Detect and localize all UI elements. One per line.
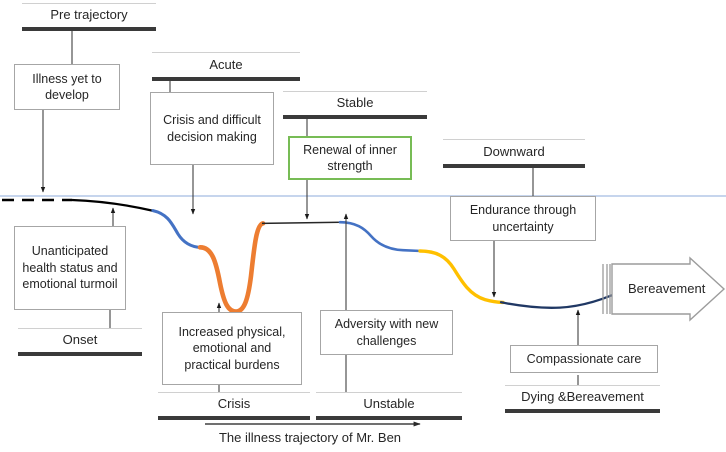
annotation-unanticipated-health-status[interactable]: Unanticipated health status and emotiona…: [14, 226, 126, 310]
annotation-text: Renewal of inner strength: [295, 142, 405, 175]
phase-bar-dying-and-bereavement[interactable]: Dying &Bereavement: [505, 385, 660, 413]
annotation-text: Illness yet to develop: [20, 71, 114, 104]
phase-bar-unstable[interactable]: Unstable: [316, 392, 462, 420]
annotation-text: Compassionate care: [527, 351, 642, 368]
curve-segment-acute: [153, 211, 201, 248]
annotation-text: Increased physical, emotional and practi…: [168, 324, 296, 374]
phase-bar-label: Acute: [209, 58, 242, 72]
phase-bar-stable[interactable]: Stable: [283, 91, 427, 119]
annotation-illness-yet-to-develop[interactable]: Illness yet to develop: [14, 64, 120, 110]
phase-bar-label: Downward: [483, 145, 544, 159]
curve-segment-unstable: [340, 222, 421, 251]
phase-bar-onset[interactable]: Onset: [18, 328, 142, 356]
annotation-adversity-with-new-challenges[interactable]: Adversity with new challenges: [320, 310, 453, 355]
curve-segment-crisis: [200, 223, 263, 311]
bereavement-label: Bereavement: [628, 278, 704, 300]
annotation-renewal-of-inner-strength[interactable]: Renewal of inner strength: [288, 136, 412, 180]
phase-bar-label: Dying &Bereavement: [521, 390, 644, 404]
phase-bar-label: Stable: [337, 96, 374, 110]
annotation-increased-burdens[interactable]: Increased physical, emotional and practi…: [162, 312, 302, 385]
phase-bar-pre-trajectory[interactable]: Pre trajectory: [22, 3, 156, 31]
annotation-text: Endurance through uncertainty: [456, 202, 590, 235]
phase-bar-downward[interactable]: Downward: [443, 139, 585, 168]
phase-bar-crisis[interactable]: Crisis: [158, 392, 310, 420]
phase-bar-label: Crisis: [218, 397, 251, 411]
annotation-text: Unanticipated health status and emotiona…: [20, 243, 120, 293]
curve-segment-stable-plateau: [262, 222, 341, 223]
figure-caption: The illness trajectory of Mr. Ben: [180, 430, 440, 445]
annotation-endurance-through-uncertainty[interactable]: Endurance through uncertainty: [450, 196, 596, 241]
annotation-text: Adversity with new challenges: [326, 316, 447, 349]
phase-bar-acute[interactable]: Acute: [152, 52, 300, 81]
phase-bar-label: Unstable: [363, 397, 414, 411]
annotation-compassionate-care[interactable]: Compassionate care: [510, 345, 658, 373]
annotation-crisis-and-difficult-decision-making[interactable]: Crisis and difficult decision making: [150, 92, 274, 165]
phase-bar-label: Onset: [63, 333, 98, 347]
curve-segment-downward: [420, 251, 503, 302]
phase-bar-label: Pre trajectory: [50, 8, 127, 22]
annotation-text: Crisis and difficult decision making: [156, 112, 268, 145]
diagram-canvas: Pre trajectory Acute Stable Downward Ill…: [0, 0, 726, 452]
